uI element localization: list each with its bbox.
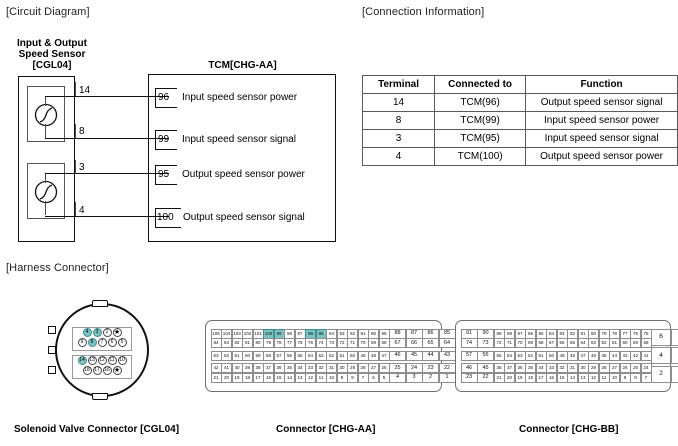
wire-4-drop [75, 202, 76, 216]
chg-bb-row: 43 [652, 348, 678, 365]
header-function: Function [526, 76, 678, 94]
cgl04-pin-5[interactable]: 5 [118, 338, 127, 347]
cgl04-pin-8[interactable]: 8 [88, 338, 97, 347]
chg-aa-pin-13[interactable]: 13 [295, 373, 306, 383]
chg-aa-pin-75[interactable]: 75 [305, 338, 316, 348]
chg-aa-pin-63[interactable]: 63 [211, 351, 222, 361]
chg-aa-pin-102[interactable]: 102 [242, 329, 253, 339]
chg-aa-pin-57[interactable]: 57 [274, 351, 285, 361]
chg-aa-pin-19[interactable]: 19 [232, 373, 243, 383]
cgl04-pin-6[interactable]: 6 [108, 338, 117, 347]
chg-bb-pin-65[interactable]: 65 [567, 338, 578, 348]
chg-bb-pin-32[interactable]: 32 [557, 363, 568, 373]
chg-bb-pin-19[interactable]: 19 [515, 373, 526, 383]
chg-bb-pin-3[interactable]: 3 [671, 347, 678, 364]
chg-aa-pin-104[interactable]: 104 [221, 329, 232, 339]
cgl04-pin-row: 18 17 16 ★ [72, 366, 132, 375]
chg-aa-pin-41[interactable]: 41 [221, 363, 232, 373]
chg-aa-pin-28[interactable]: 28 [358, 363, 369, 373]
wire-8-99 [45, 138, 169, 139]
chg-aa-pin-94[interactable]: 94 [326, 329, 337, 339]
cgl04-pin-13[interactable]: 13 [88, 356, 97, 365]
chg-bb-pin-84[interactable]: 84 [546, 329, 557, 339]
chg-aa-pin-58[interactable]: 58 [263, 351, 274, 361]
chg-aa-pin-105[interactable]: 105 [211, 329, 222, 339]
chg-aa-pin-5[interactable]: 5 [379, 373, 390, 383]
chg-aa-pin-25[interactable]: 25 [389, 363, 406, 373]
tcm-terminal-100-left [155, 208, 156, 228]
chg-aa-pin-76[interactable]: 76 [295, 338, 306, 348]
chg-bb-right-block: 654321 [652, 329, 678, 383]
chg-bb-pin-82[interactable]: 82 [567, 329, 578, 339]
chg-bb-row: 5756 [461, 351, 494, 361]
chg-aa-pin-12[interactable]: 12 [305, 373, 316, 383]
chg-bb-pin-8[interactable]: 8 [630, 373, 641, 383]
sensor-block-label-line2: Speed Sensor [4, 49, 100, 60]
chg-aa-pin-95[interactable]: 95 [316, 329, 327, 339]
chg-aa-pin-35[interactable]: 35 [284, 363, 295, 373]
cgl04-pin-group-upper: 4 3 2 ★ 9 8 7 6 5 [72, 328, 132, 347]
chg-bb-pin-7[interactable]: 7 [641, 373, 652, 383]
chg-aa-pin-71[interactable]: 71 [347, 338, 358, 348]
chg-bb-pin-45[interactable]: 45 [477, 363, 494, 373]
chg-bb-pin-69[interactable]: 69 [525, 338, 536, 348]
chg-bb-pin-24[interactable]: 24 [641, 363, 652, 373]
chg-aa-pin-38[interactable]: 38 [253, 363, 264, 373]
chg-aa-pin-68[interactable]: 68 [379, 338, 390, 348]
cgl04-pin-16[interactable]: 16 [103, 366, 112, 375]
chg-aa-pin-59[interactable]: 59 [253, 351, 264, 361]
chg-aa-caption: Connector [CHG-AA] [276, 424, 375, 435]
chg-bb-pin-23[interactable]: 23 [461, 373, 478, 383]
cgl04-pin-12[interactable]: 12 [98, 356, 107, 365]
chg-aa-pin-70[interactable]: 70 [358, 338, 369, 348]
chg-aa-pin-37[interactable]: 37 [263, 363, 274, 373]
chg-bb-pin-53[interactable]: 53 [515, 351, 526, 361]
chg-bb-row: 727170696867666564636261605958 [494, 339, 652, 349]
cell-terminal: 3 [363, 130, 435, 148]
tcm-terminal-95-left [155, 165, 156, 185]
table-row: 4 TCM(100) Output speed sensor power [363, 148, 678, 166]
function-text-96: Input speed sensor power [182, 92, 297, 103]
chg-aa-pin-20[interactable]: 20 [221, 373, 232, 383]
chg-aa-pin-97[interactable]: 97 [295, 329, 306, 339]
chg-bb-pin-67[interactable]: 67 [546, 338, 557, 348]
chg-bb-pin-25[interactable]: 25 [630, 363, 641, 373]
connection-information-title: [Connection Information] [362, 6, 484, 18]
chg-aa-pin-92[interactable]: 92 [347, 329, 358, 339]
chg-aa-pin-4[interactable]: 4 [389, 373, 406, 383]
cgl04-tab-top [92, 300, 108, 307]
cgl04-tab-bottom [92, 393, 108, 400]
chg-aa-pin-29[interactable]: 29 [347, 363, 358, 373]
chg-aa-pin-23[interactable]: 23 [422, 363, 439, 373]
chg-bb-pin-83[interactable]: 83 [557, 329, 568, 339]
chg-bb-pin-71[interactable]: 71 [504, 338, 515, 348]
chg-aa-pin-89[interactable]: 89 [379, 329, 390, 339]
chg-bb-pin-1[interactable]: 1 [671, 366, 678, 383]
chg-bb-pin-91[interactable]: 91 [461, 329, 478, 339]
cell-function: Input speed sensor power [526, 112, 678, 130]
chg-aa-pin-83[interactable]: 83 [221, 338, 232, 348]
chg-aa-pin-78[interactable]: 78 [274, 338, 285, 348]
chg-aa-pin-69[interactable]: 69 [368, 338, 379, 348]
chg-aa-pin-100[interactable]: 100 [263, 329, 274, 339]
chg-bb-pin-90[interactable]: 90 [477, 329, 494, 339]
chg-aa-pin-56[interactable]: 56 [284, 351, 295, 361]
tcm-terminal-96-left [155, 88, 156, 108]
chg-aa-pin-77[interactable]: 77 [284, 338, 295, 348]
cgl04-pin-10[interactable]: 10 [118, 356, 127, 365]
sensor2-lead-top [45, 173, 46, 183]
chg-aa-pin-49[interactable]: 49 [358, 351, 369, 361]
chg-aa-right-block: 888786856766656446454443252423224321 [390, 329, 456, 383]
table-row: 14 TCM(96) Output speed sensor signal [363, 94, 678, 112]
chg-aa-pin-85[interactable]: 85 [439, 329, 456, 339]
chg-aa-pin-3[interactable]: 3 [406, 373, 423, 383]
chg-bb-pin-80[interactable]: 80 [588, 329, 599, 339]
cgl04-pin-row: 9 8 7 6 5 [72, 338, 132, 347]
chg-aa-pin-11[interactable]: 11 [316, 373, 327, 383]
chg-aa-pin-50[interactable]: 50 [347, 351, 358, 361]
chg-aa-pin-39[interactable]: 39 [242, 363, 253, 373]
chg-aa-pin-9[interactable]: 9 [337, 373, 348, 383]
chg-bb-pin-73[interactable]: 73 [477, 338, 494, 348]
chg-bb-pin-28[interactable]: 28 [599, 363, 610, 373]
wire-4-100 [45, 216, 169, 217]
cgl04-pin-14[interactable]: 14 [78, 356, 87, 365]
chg-bb-pin-13[interactable]: 13 [578, 373, 589, 383]
chg-bb-pin-31[interactable]: 31 [567, 363, 578, 373]
chg-aa-pin-36[interactable]: 36 [274, 363, 285, 373]
chg-bb-pin-70[interactable]: 70 [515, 338, 526, 348]
chg-bb-row: 555453525150494847464544434241 [494, 351, 652, 361]
cgl04-pin-star-b[interactable]: ★ [113, 366, 122, 375]
cgl04-tab-left-lower [48, 366, 56, 374]
chg-bb-pin-68[interactable]: 68 [536, 338, 547, 348]
cell-connected-to: TCM(95) [435, 130, 526, 148]
chg-aa-row: 21201918171615141312111098765 [211, 373, 390, 383]
chg-bb-pin-77[interactable]: 77 [620, 329, 631, 339]
chg-aa-pin-55[interactable]: 55 [295, 351, 306, 361]
chg-bb-pin-27[interactable]: 27 [609, 363, 620, 373]
cell-function: Output speed sensor signal [526, 94, 678, 112]
chg-bb-pin-14[interactable]: 14 [567, 373, 578, 383]
chg-bb-pin-15[interactable]: 15 [557, 373, 568, 383]
sensor-pin-14: 14 [79, 85, 90, 96]
chg-aa-pin-24[interactable]: 24 [406, 363, 423, 373]
cell-terminal: 4 [363, 148, 435, 166]
chg-bb-pin-4[interactable]: 4 [651, 347, 671, 364]
chg-aa-pin-30[interactable]: 30 [337, 363, 348, 373]
chg-bb-pin-9[interactable]: 9 [620, 373, 631, 383]
tcm-terminal-95-top [155, 165, 177, 166]
chg-aa-pin-48[interactable]: 48 [368, 351, 379, 361]
tcm-pin-99: 99 [158, 134, 169, 145]
cgl04-pin-2[interactable]: 2 [103, 328, 112, 337]
chg-aa-row: 46454443 [390, 351, 456, 361]
chg-bb-row: 2322 [461, 373, 494, 383]
chg-aa-row: 4321 [390, 373, 456, 383]
chg-aa-pin-79[interactable]: 79 [263, 338, 274, 348]
cgl04-pin-group-lower: 14 13 12 11 10 18 17 16 ★ [72, 356, 132, 375]
cgl04-connector: 4 3 2 ★ 9 8 7 6 5 14 13 12 11 10 18 17 1… [44, 300, 164, 400]
chg-aa-pin-93[interactable]: 93 [337, 329, 348, 339]
chg-aa-pin-22[interactable]: 22 [439, 363, 456, 373]
chg-aa-pin-32[interactable]: 32 [316, 363, 327, 373]
chg-aa-pin-46[interactable]: 46 [389, 351, 406, 361]
cgl04-tab-left-upper [48, 326, 56, 334]
cell-connected-to: TCM(100) [435, 148, 526, 166]
tcm-terminal-99-bottom [155, 149, 177, 150]
chg-aa-row: 6362616059585756555453525150494847 [211, 351, 390, 361]
chg-aa-pin-34[interactable]: 34 [295, 363, 306, 373]
chg-bb-pin-11[interactable]: 11 [599, 373, 610, 383]
chg-bb-pin-72[interactable]: 72 [494, 338, 505, 348]
chg-bb-pin-56[interactable]: 56 [477, 351, 494, 361]
chg-bb-pin-22[interactable]: 22 [477, 373, 494, 383]
chg-aa-pin-43[interactable]: 43 [439, 351, 456, 361]
chg-bb-pin-33[interactable]: 33 [546, 363, 557, 373]
wire-3-95 [45, 173, 169, 174]
table-header-row: Terminal Connected to Function [363, 76, 678, 94]
chg-bb-pin-38[interactable]: 38 [494, 363, 505, 373]
chg-aa-pin-51[interactable]: 51 [337, 351, 348, 361]
chg-aa-pin-62[interactable]: 62 [221, 351, 232, 361]
chg-aa-pin-99[interactable]: 99 [274, 329, 285, 339]
chg-aa-pin-18[interactable]: 18 [242, 373, 253, 383]
chg-aa-pin-8[interactable]: 8 [347, 373, 358, 383]
chg-aa-pin-81[interactable]: 81 [242, 338, 253, 348]
chg-aa-pin-60[interactable]: 60 [242, 351, 253, 361]
chg-bb-pin-20[interactable]: 20 [504, 373, 515, 383]
chg-bb-pin-64[interactable]: 64 [578, 338, 589, 348]
cgl04-pin-star-a[interactable]: ★ [113, 328, 122, 337]
chg-aa-pin-98[interactable]: 98 [284, 329, 295, 339]
chg-aa-pin-64[interactable]: 64 [439, 338, 456, 348]
chg-aa-pin-27[interactable]: 27 [368, 363, 379, 373]
chg-bb-pin-30[interactable]: 30 [578, 363, 589, 373]
chg-bb-pin-88[interactable]: 88 [504, 329, 515, 339]
chg-bb-pin-45[interactable]: 45 [599, 351, 610, 361]
chg-aa-pin-82[interactable]: 82 [232, 338, 243, 348]
chg-bb-pin-66[interactable]: 66 [557, 338, 568, 348]
chg-aa-pin-47[interactable]: 47 [379, 351, 390, 361]
chg-bb-pin-87[interactable]: 87 [515, 329, 526, 339]
sensor-block-label-line1: Input & Output [4, 38, 100, 49]
chg-aa-pin-17[interactable]: 17 [253, 373, 264, 383]
connection-information-table: Terminal Connected to Function 14 TCM(96… [362, 75, 678, 166]
cgl04-caption: Solenoid Valve Connector [CGL04] [14, 424, 179, 435]
chg-aa-pin-52[interactable]: 52 [326, 351, 337, 361]
chg-bb-pin-2[interactable]: 2 [651, 366, 671, 383]
cgl04-pin-18[interactable]: 18 [83, 366, 92, 375]
chg-bb-pin-63[interactable]: 63 [588, 338, 599, 348]
chg-bb-pin-35[interactable]: 35 [525, 363, 536, 373]
chg-bb-pin-86[interactable]: 86 [525, 329, 536, 339]
sensor-pin-8: 8 [79, 126, 85, 137]
chg-aa-pin-90[interactable]: 90 [368, 329, 379, 339]
chg-bb-pin-61[interactable]: 61 [609, 338, 620, 348]
cgl04-pin-11[interactable]: 11 [108, 356, 117, 365]
chg-bb-pin-59[interactable]: 59 [630, 338, 641, 348]
chg-aa-pin-67[interactable]: 67 [389, 338, 406, 348]
chg-aa-pin-2[interactable]: 2 [422, 373, 439, 383]
chg-aa-left-block: 1051041031021011009998979695949392919089… [211, 329, 390, 383]
chg-bb-pin-62[interactable]: 62 [599, 338, 610, 348]
chg-bb-row: 65 [652, 329, 678, 346]
circuit-diagram: Input & Output Speed Sensor [CGL04] TCM[… [0, 0, 350, 255]
wire-14-96 [45, 96, 169, 97]
sensor-pin-4: 4 [79, 205, 85, 216]
chg-bb-pin-26[interactable]: 26 [620, 363, 631, 373]
chg-aa-pin-65[interactable]: 65 [422, 338, 439, 348]
chg-aa-pin-15[interactable]: 15 [274, 373, 285, 383]
cgl04-pin-row: 4 3 2 ★ [72, 328, 132, 337]
chg-aa-pin-61[interactable]: 61 [232, 351, 243, 361]
cgl04-tab-left-middle [48, 346, 56, 354]
chg-aa-pin-16[interactable]: 16 [263, 373, 274, 383]
function-text-95: Output speed sensor power [182, 169, 305, 180]
tcm-terminal-100-top [155, 208, 181, 209]
chg-aa-pin-87[interactable]: 87 [406, 329, 423, 339]
chg-bb-pin-54[interactable]: 54 [504, 351, 515, 361]
chg-bb-pin-46[interactable]: 46 [461, 363, 478, 373]
tcm-pin-96: 96 [158, 92, 169, 103]
chg-aa-pin-1[interactable]: 1 [439, 373, 456, 383]
chg-aa-pin-40[interactable]: 40 [232, 363, 243, 373]
chg-aa-pin-103[interactable]: 103 [232, 329, 243, 339]
chg-bb-pin-36[interactable]: 36 [515, 363, 526, 373]
cgl04-pin-9[interactable]: 9 [78, 338, 87, 347]
chg-aa-pin-84[interactable]: 84 [211, 338, 222, 348]
tcm-block-label: TCM[CHG-AA] [150, 60, 335, 71]
chg-bb-pin-81[interactable]: 81 [578, 329, 589, 339]
cell-function: Input speed sensor signal [526, 130, 678, 148]
chg-bb-pin-21[interactable]: 21 [494, 373, 505, 383]
cell-connected-to: TCM(99) [435, 112, 526, 130]
chg-bb-pin-50[interactable]: 50 [546, 351, 557, 361]
chg-bb-pin-10[interactable]: 10 [609, 373, 620, 383]
chg-aa-pin-54[interactable]: 54 [305, 351, 316, 361]
chg-bb-pin-6[interactable]: 6 [651, 329, 671, 346]
chg-aa-pin-80[interactable]: 80 [253, 338, 264, 348]
chg-aa-pin-31[interactable]: 31 [326, 363, 337, 373]
sensor2-lead-bottom [45, 201, 46, 215]
harness-connector-title: [Harness Connector] [6, 262, 109, 274]
chg-bb-pin-29[interactable]: 29 [588, 363, 599, 373]
chg-aa-pin-74[interactable]: 74 [316, 338, 327, 348]
chg-bb-pin-89[interactable]: 89 [494, 329, 505, 339]
chg-bb-pin-85[interactable]: 85 [536, 329, 547, 339]
sensor1-lead-bottom [45, 124, 46, 138]
cgl04-pin-4[interactable]: 4 [83, 328, 92, 337]
chg-bb-pin-74[interactable]: 74 [461, 338, 478, 348]
chg-aa-pin-10[interactable]: 10 [326, 373, 337, 383]
tcm-pin-95: 95 [158, 169, 169, 180]
cgl04-pin-7[interactable]: 7 [98, 338, 107, 347]
chg-aa-pin-66[interactable]: 66 [406, 338, 423, 348]
chg-bb-pin-43[interactable]: 43 [620, 351, 631, 361]
chg-bb-pin-17[interactable]: 17 [536, 373, 547, 383]
chg-bb-mid-block: 8988878685848382818079787776757271706968… [494, 329, 652, 383]
header-connected-to: Connected to [435, 76, 526, 94]
chg-aa-pin-6[interactable]: 6 [368, 373, 379, 383]
chg-aa-pin-7[interactable]: 7 [358, 373, 369, 383]
chg-aa-connector: 1051041031021011009998979695949392919089… [205, 320, 442, 392]
chg-bb-pin-79[interactable]: 79 [599, 329, 610, 339]
chg-aa-pin-72[interactable]: 72 [337, 338, 348, 348]
chg-aa-pin-96[interactable]: 96 [305, 329, 316, 339]
chg-bb-pin-37[interactable]: 37 [504, 363, 515, 373]
chg-bb-pin-51[interactable]: 51 [536, 351, 547, 361]
chg-aa-pin-26[interactable]: 26 [379, 363, 390, 373]
chg-bb-pin-58[interactable]: 58 [641, 338, 652, 348]
function-text-99: Input speed sensor signal [182, 134, 296, 145]
output-speed-sensor-symbol [31, 177, 61, 207]
cell-terminal: 8 [363, 112, 435, 130]
chg-bb-pin-49[interactable]: 49 [557, 351, 568, 361]
chg-bb-caption: Connector [CHG-BB] [519, 424, 618, 435]
chg-bb-pin-60[interactable]: 60 [620, 338, 631, 348]
chg-bb-pin-16[interactable]: 16 [546, 373, 557, 383]
cgl04-pin-3[interactable]: 3 [93, 328, 102, 337]
chg-bb-row: 21 [652, 366, 678, 383]
chg-aa-pin-45[interactable]: 45 [406, 351, 423, 361]
chg-bb-pin-12[interactable]: 12 [588, 373, 599, 383]
chg-bb-connector: 91907473575646452322 8988878685848382818… [455, 320, 671, 392]
cell-terminal: 14 [363, 94, 435, 112]
chg-aa-pin-73[interactable]: 73 [326, 338, 337, 348]
header-terminal: Terminal [363, 76, 435, 94]
cgl04-pin-17[interactable]: 17 [93, 366, 102, 375]
chg-bb-pin-42[interactable]: 42 [630, 351, 641, 361]
chg-aa-pin-101[interactable]: 101 [253, 329, 264, 339]
chg-aa-pin-86[interactable]: 86 [422, 329, 439, 339]
chg-bb-pin-78[interactable]: 78 [609, 329, 620, 339]
tcm-terminal-96-bottom [155, 107, 177, 108]
chg-bb-pin-55[interactable]: 55 [494, 351, 505, 361]
chg-bb-pin-48[interactable]: 48 [567, 351, 578, 361]
chg-bb-pin-47[interactable]: 47 [578, 351, 589, 361]
chg-bb-pin-5[interactable]: 5 [671, 329, 678, 346]
chg-aa-pin-14[interactable]: 14 [284, 373, 295, 383]
tcm-terminal-100-bottom [155, 227, 181, 228]
cgl04-pin-row: 14 13 12 11 10 [72, 356, 132, 365]
chg-bb-pin-52[interactable]: 52 [525, 351, 536, 361]
chg-bb-pin-76[interactable]: 76 [630, 329, 641, 339]
chg-aa-row: 67666564 [390, 339, 456, 349]
tcm-terminal-96-top [155, 88, 177, 89]
chg-bb-pin-57[interactable]: 57 [461, 351, 478, 361]
chg-aa-pin-88[interactable]: 88 [389, 329, 406, 339]
chg-aa-pin-33[interactable]: 33 [305, 363, 316, 373]
chg-aa-pin-91[interactable]: 91 [358, 329, 369, 339]
tcm-pin-100: 100 [157, 212, 174, 223]
chg-bb-pin-18[interactable]: 18 [525, 373, 536, 383]
chg-bb-pin-46[interactable]: 46 [588, 351, 599, 361]
chg-bb-row: 7473 [461, 339, 494, 349]
chg-aa-pin-44[interactable]: 44 [422, 351, 439, 361]
chg-bb-pin-44[interactable]: 44 [609, 351, 620, 361]
chg-aa-pin-53[interactable]: 53 [316, 351, 327, 361]
chg-bb-pin-41[interactable]: 41 [641, 351, 652, 361]
chg-bb-pin-34[interactable]: 34 [536, 363, 547, 373]
chg-aa-pin-42[interactable]: 42 [211, 363, 222, 373]
chg-bb-pin-75[interactable]: 75 [641, 329, 652, 339]
chg-aa-pin-21[interactable]: 21 [211, 373, 222, 383]
tcm-terminal-99-top [155, 130, 177, 131]
